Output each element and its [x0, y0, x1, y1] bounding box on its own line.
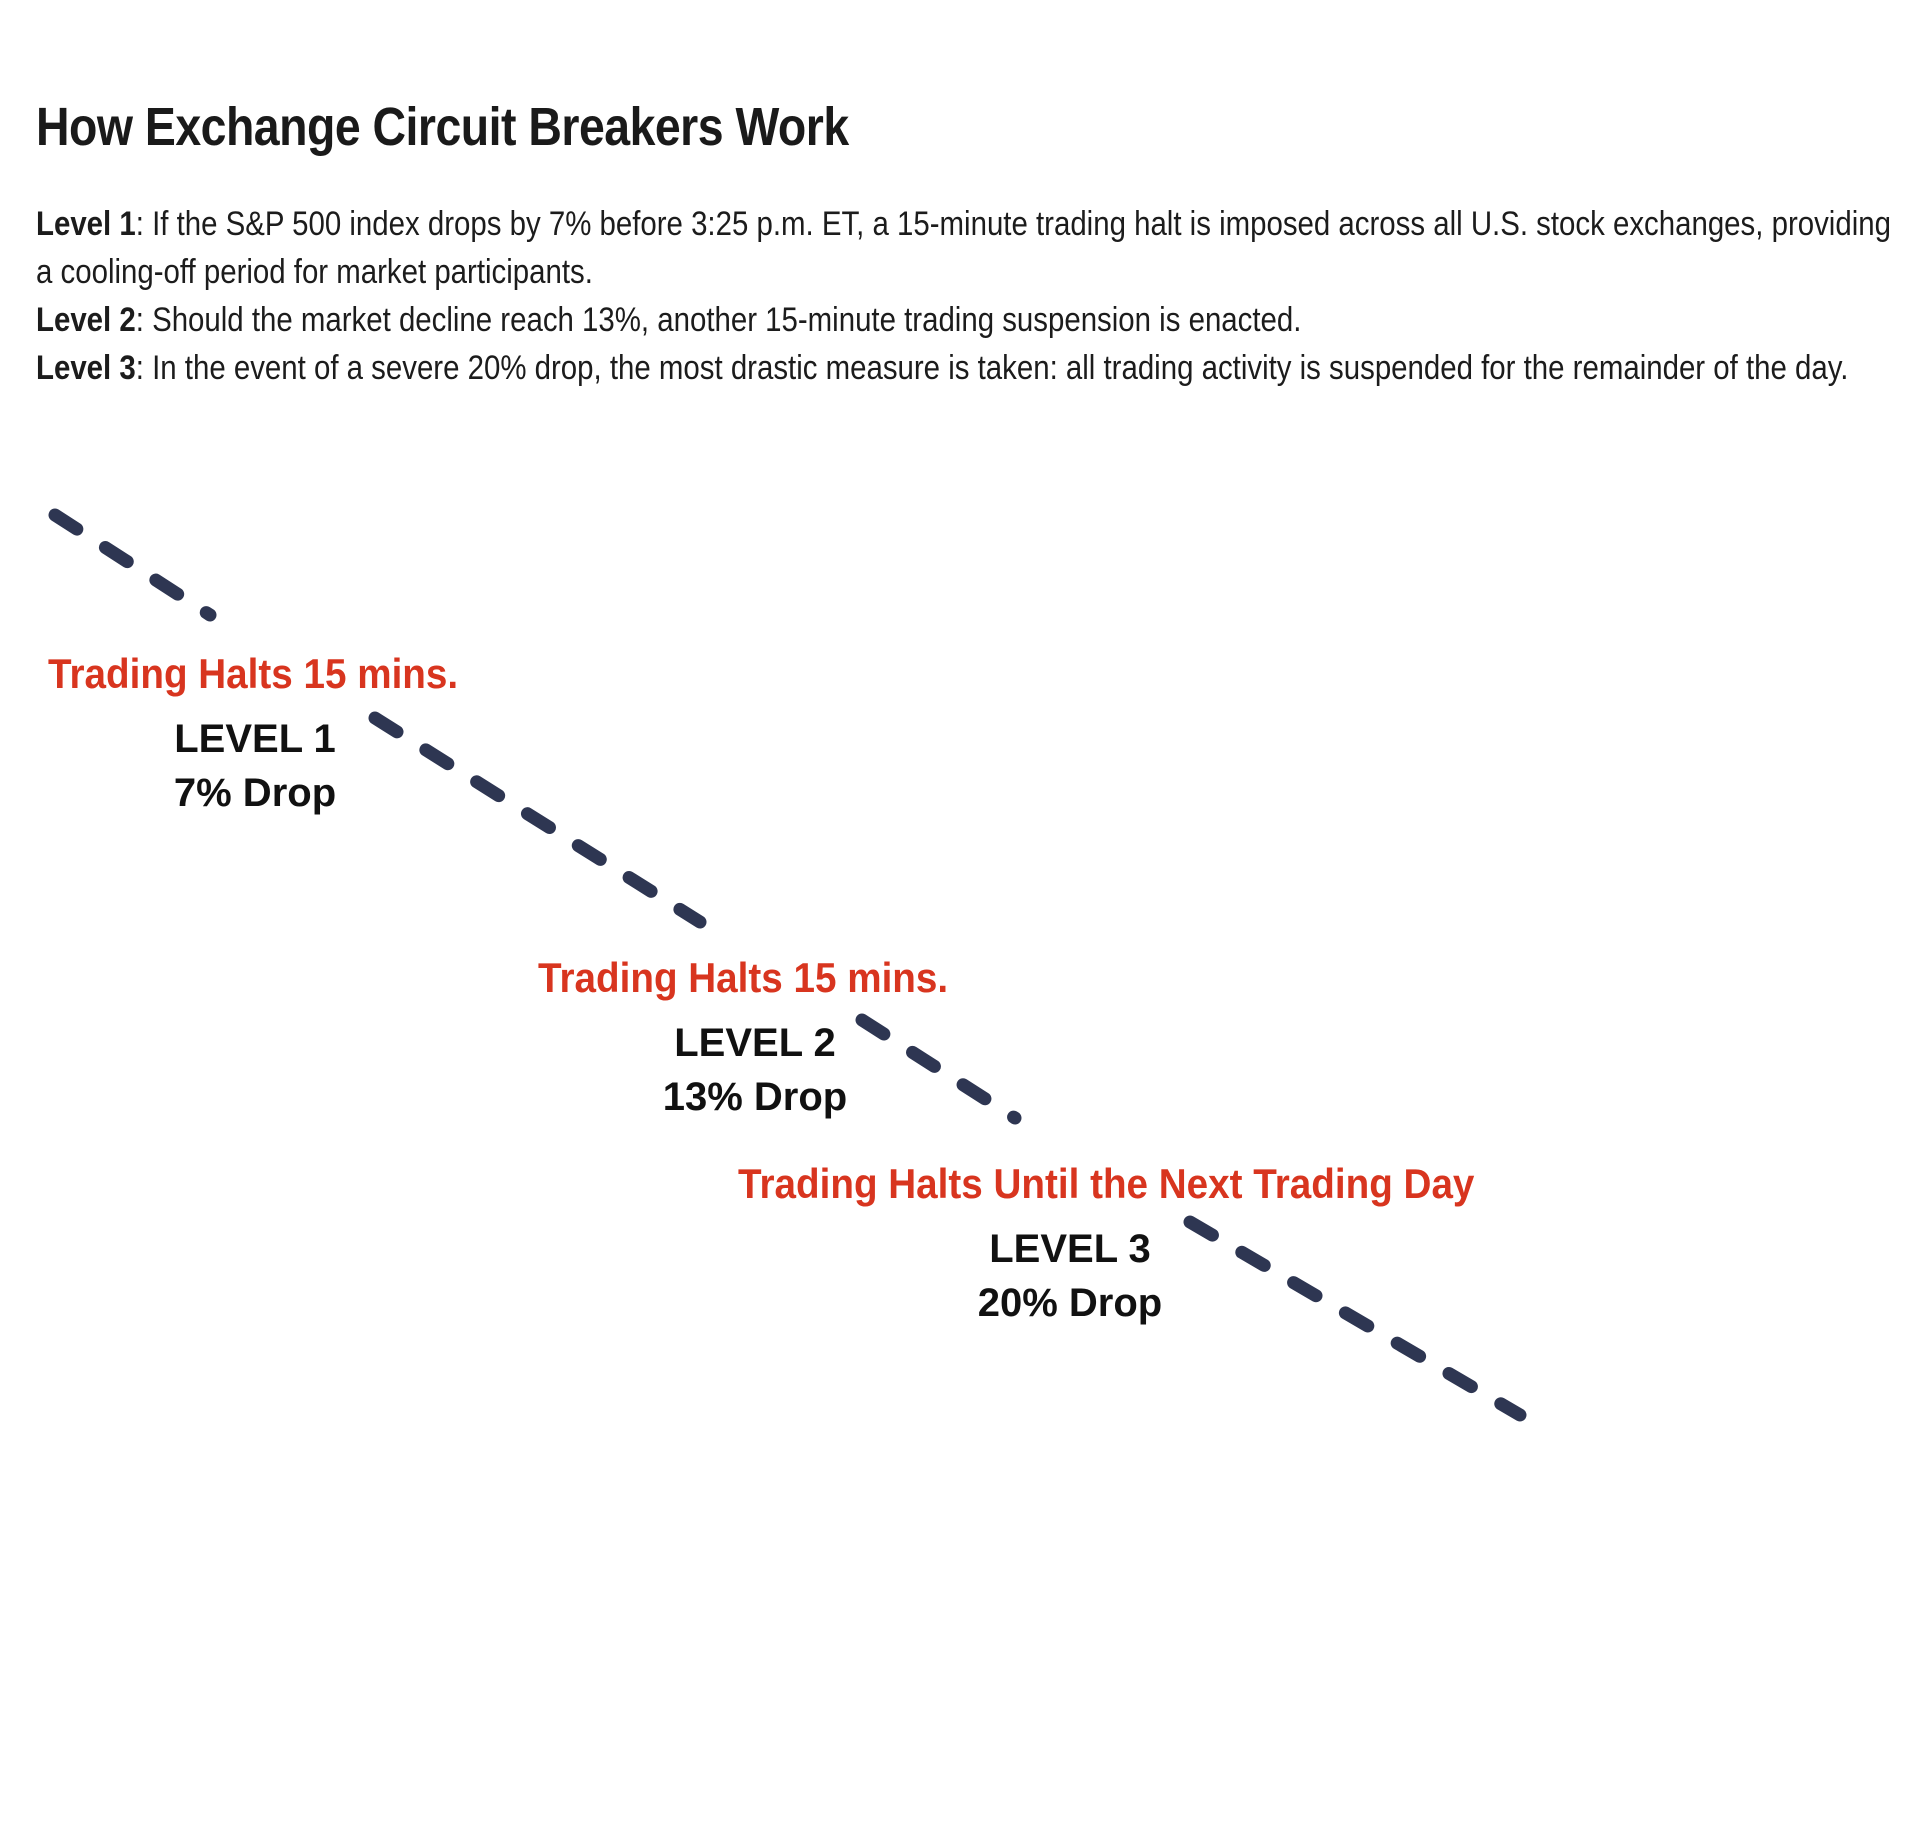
halt-label-level-2: Trading Halts 15 mins. [538, 954, 948, 1002]
intro-paragraph-level-2: Level 2: Should the market decline reach… [36, 296, 1909, 344]
level-1-body: : If the S&P 500 index drops by 7% befor… [36, 205, 1891, 291]
intro-copy: Level 1: If the S&P 500 index drops by 7… [36, 200, 1909, 392]
dashed-decline-segment-4 [1190, 1222, 1520, 1415]
page-title: How Exchange Circuit Breakers Work [36, 96, 1636, 158]
level-marker-3-title: LEVEL 3 [975, 1222, 1165, 1276]
halt-label-level-3: Trading Halts Until the Next Trading Day [738, 1160, 1474, 1208]
dashed-decline-segment-2 [375, 718, 700, 922]
intro-paragraph-level-1: Level 1: If the S&P 500 index drops by 7… [36, 200, 1909, 296]
level-marker-2: LEVEL 2 13% Drop [660, 1016, 850, 1124]
level-marker-3: LEVEL 3 20% Drop [975, 1222, 1165, 1330]
header-block: How Exchange Circuit Breakers Work Level… [36, 96, 1896, 158]
level-3-body: : In the event of a severe 20% drop, the… [136, 349, 1849, 387]
level-marker-2-drop: 13% Drop [660, 1070, 850, 1124]
level-marker-1: LEVEL 1 7% Drop [160, 712, 350, 820]
halt-label-level-1: Trading Halts 15 mins. [48, 650, 458, 698]
level-marker-2-title: LEVEL 2 [660, 1016, 850, 1070]
level-2-lead: Level 2 [36, 301, 136, 339]
infographic-canvas: How Exchange Circuit Breakers Work Level… [0, 0, 1920, 1823]
level-3-lead: Level 3 [36, 349, 136, 387]
dashed-decline-segment-3 [862, 1020, 1015, 1118]
level-1-lead: Level 1 [36, 205, 136, 243]
intro-paragraph-level-3: Level 3: In the event of a severe 20% dr… [36, 344, 1909, 392]
level-marker-3-drop: 20% Drop [975, 1276, 1165, 1330]
level-marker-1-title: LEVEL 1 [160, 712, 350, 766]
dashed-decline-segment-1 [55, 515, 210, 615]
level-marker-1-drop: 7% Drop [160, 766, 350, 820]
level-2-body: : Should the market decline reach 13%, a… [136, 301, 1302, 339]
